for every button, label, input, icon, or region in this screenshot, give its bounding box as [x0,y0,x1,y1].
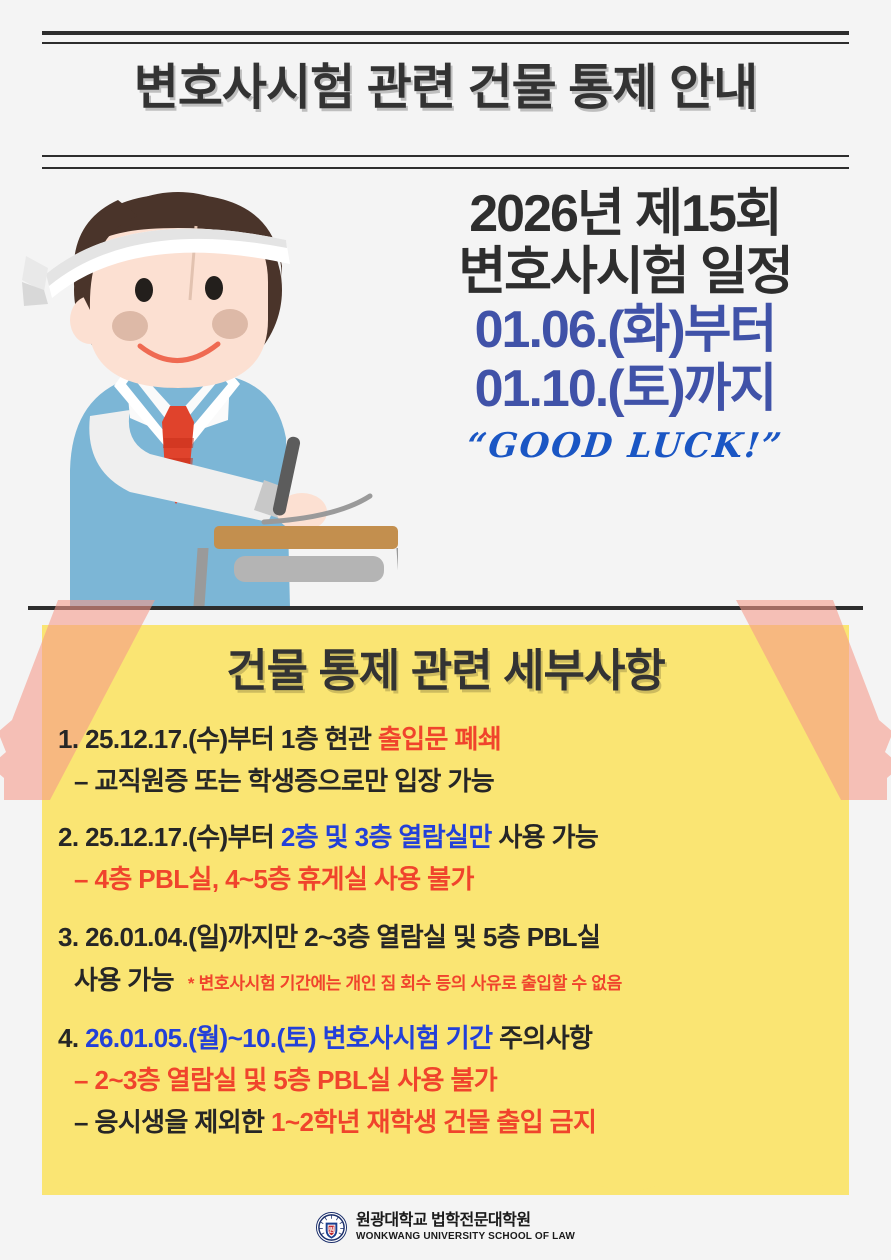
schedule-start-date: 01.06.(화)부터 [380,301,870,359]
detail-item-3-number: 3. [58,922,78,952]
detail-item-2-number: 2. [58,822,78,852]
detail-item-1: 1. 25.12.17.(수)부터 1층 현관 출입문 폐쇄 – 교직원증 또는… [58,718,848,802]
detail-item-2-main: 2. 25.12.17.(수)부터 2층 및 3층 열람실만 사용 가능 [58,816,848,858]
detail-item-3-note: * 변호사시험 기간에는 개인 짐 회수 등의 사유로 출입할 수 없음 [188,970,622,998]
detail-item-1-sub: – 교직원증 또는 학생증으로만 입장 가능 [58,760,848,802]
detail-item-2-text-blue: 2층 및 3층 열람실만 [281,822,498,852]
detail-item-2-text-b: 사용 가능 [498,822,598,852]
detail-item-1-main: 1. 25.12.17.(수)부터 1층 현관 출입문 폐쇄 [58,718,848,760]
detail-item-2-sub-dash: – [74,864,88,894]
detail-item-4-number: 4. [58,1023,78,1053]
footer-name-ko: 원광대학교 법학전문대학원 [356,1213,575,1229]
schedule-line-1: 2026년 제15회 [380,185,870,243]
page-title: 변호사시험 관련 건물 통제 안내 [0,48,891,119]
detail-item-4-sub2-text-a: 응시생을 제외한 [95,1107,272,1137]
detail-item-1-number: 1. [58,724,78,754]
divider-mid-lower [42,167,849,169]
schedule-end-date: 01.10.(토)까지 [380,360,870,418]
detail-item-2-text-a: 25.12.17.(수)부터 [85,822,281,852]
detail-item-3-text-a: 26.01.04.(일)까지만 2~3층 열람실 및 5층 PBL실 [85,922,600,952]
details-list: 1. 25.12.17.(수)부터 1층 현관 출입문 폐쇄 – 교직원증 또는… [58,718,848,1149]
detail-item-2: 2. 25.12.17.(수)부터 2층 및 3층 열람실만 사용 가능 – 4… [58,816,848,900]
detail-item-4-sub2-red: 1~2학년 재학생 건물 출입 금지 [271,1107,596,1137]
detail-item-2-sub-red: 4층 PBL실, 4~5층 휴게실 사용 불가 [95,864,474,894]
footer-name-en: WONKWANG UNIVERSITY SCHOOL OF LAW [356,1232,575,1242]
detail-item-4-sub-1: – 2~3층 열람실 및 5층 PBL실 사용 불가 [58,1059,848,1101]
footer-branding: 원 원광대학교 법학전문대학원 WONKWANG UNIVERSITY SCHO… [0,1212,891,1243]
detail-item-3: 3. 26.01.04.(일)까지만 2~3층 열람실 및 5층 PBL실 사용… [58,916,848,1000]
footer-text: 원광대학교 법학전문대학원 WONKWANG UNIVERSITY SCHOOL… [356,1213,575,1242]
detail-item-3-text-b: 사용 가능 [74,959,174,1001]
details-heading: 건물 통제 관련 세부사항 [0,634,891,699]
torn-paper-edge [42,1160,849,1205]
university-crest-icon: 원 [316,1212,347,1243]
detail-item-4-sub-2: – 응시생을 제외한 1~2학년 재학생 건물 출입 금지 [58,1101,848,1143]
divider-top-thin [42,42,849,44]
poster-root: 변호사시험 관련 건물 통제 안내 [0,0,891,1260]
detail-item-2-sub: – 4층 PBL실, 4~5층 휴게실 사용 불가 [58,858,848,900]
good-luck-message: “GOOD LUCK!” [378,426,872,466]
divider-mid-upper [42,155,849,157]
detail-item-4-sub1-dash: – [74,1065,88,1095]
detail-item-4-text-b: 주의사항 [499,1023,592,1053]
student-illustration [18,170,398,608]
detail-item-4-text-blue: 26.01.05.(월)~10.(토) 변호사시험 기간 [85,1023,499,1053]
detail-item-4-main: 4. 26.01.05.(월)~10.(토) 변호사시험 기간 주의사항 [58,1017,848,1059]
divider-top-thick [42,31,849,35]
detail-item-1-text-red: 출입문 폐쇄 [378,724,501,754]
detail-item-1-text-a: 25.12.17.(수)부터 1층 현관 [85,724,378,754]
detail-item-4-sub2-dash: – [74,1107,88,1137]
detail-item-3-main: 3. 26.01.04.(일)까지만 2~3층 열람실 및 5층 PBL실 [58,916,848,958]
exam-schedule-block: 2026년 제15회 변호사시험 일정 01.06.(화)부터 01.10.(토… [380,185,870,466]
detail-item-4: 4. 26.01.05.(월)~10.(토) 변호사시험 기간 주의사항 – 2… [58,1017,848,1143]
detail-item-4-sub1-red: 2~3층 열람실 및 5층 PBL실 사용 불가 [95,1065,498,1095]
detail-item-3-second-row: 사용 가능 * 변호사시험 기간에는 개인 짐 회수 등의 사유로 출입할 수 … [58,959,848,1001]
schedule-line-2: 변호사시험 일정 [380,243,870,301]
details-panel-wrapper: 건물 통제 관련 세부사항 1. 25.12.17.(수)부터 1층 현관 출입… [0,600,891,1220]
student-writing-at-desk-icon [18,170,398,608]
